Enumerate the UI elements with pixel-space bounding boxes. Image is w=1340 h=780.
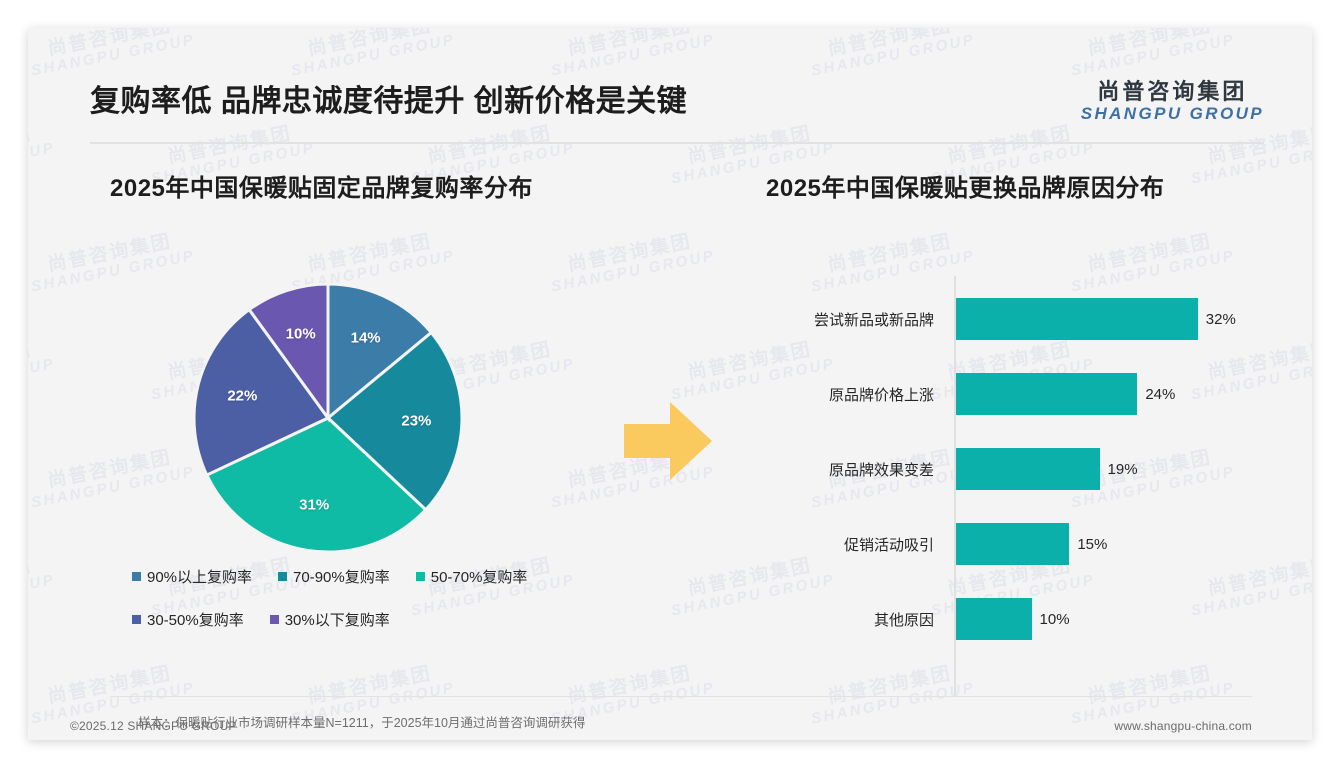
legend-swatch xyxy=(278,572,287,581)
company-logo: 尚普咨询集团 SHANGPU GROUP xyxy=(1081,80,1264,124)
bar-fill[interactable] xyxy=(956,523,1069,565)
page-title: 复购率低 品牌忠诚度待提升 创新价格是关键 xyxy=(90,76,687,120)
logo-english-name: SHANGPU GROUP xyxy=(1081,105,1264,124)
pie-slice-label: 23% xyxy=(401,412,431,429)
legend-swatch xyxy=(132,615,141,624)
bar-row[interactable]: 促销活动吸引15% xyxy=(766,523,1286,565)
watermark-text: 尚普咨询集团SHANGPU GROUP xyxy=(28,120,57,187)
logo-chinese-name: 尚普咨询集团 xyxy=(1081,80,1264,104)
sample-footnote: 样本：保暖贴行业市场调研样本量N=1211，于2025年10月通过尚普咨询调研获… xyxy=(138,712,585,731)
pie-slice-label: 10% xyxy=(286,325,316,342)
legend-item[interactable]: 50-70%复购率 xyxy=(416,566,528,587)
slide-header: 复购率低 品牌忠诚度待提升 创新价格是关键 尚普咨询集团 SHANGPU GRO… xyxy=(28,28,1312,120)
watermark-text: 尚普咨询集团SHANGPU GROUP xyxy=(28,336,57,403)
bar-fill[interactable] xyxy=(956,448,1100,490)
bar-category-label: 促销活动吸引 xyxy=(766,534,946,555)
legend-row: 30-50%复购率30%以下复购率 xyxy=(132,609,692,630)
bar-row[interactable]: 原品牌价格上涨24% xyxy=(766,373,1286,415)
bar-fill[interactable] xyxy=(956,373,1137,415)
bar-value-label: 10% xyxy=(1040,611,1070,628)
legend-label: 30-50%复购率 xyxy=(147,609,244,630)
bar-value-label: 15% xyxy=(1077,536,1107,553)
bar-chart-title: 2025年中国保暖贴更换品牌原因分布 xyxy=(766,168,1286,203)
bar-fill[interactable] xyxy=(956,298,1198,340)
bar-category-label: 尝试新品或新品牌 xyxy=(766,309,946,330)
pie-chart-panel: 2025年中国保暖贴固定品牌复购率分布 14%23%31%22%10% 90%以… xyxy=(110,168,710,668)
pie-slice-label: 14% xyxy=(351,329,381,346)
legend-swatch xyxy=(132,572,141,581)
legend-item[interactable]: 90%以上复购率 xyxy=(132,566,252,587)
bar-fill[interactable] xyxy=(956,598,1032,640)
legend-label: 50-70%复购率 xyxy=(431,566,528,587)
legend-label: 90%以上复购率 xyxy=(147,566,252,587)
bar-category-label: 其他原因 xyxy=(766,609,946,630)
pie-slice-label: 22% xyxy=(227,388,257,405)
bar-value-label: 19% xyxy=(1108,461,1138,478)
bar-value-label: 24% xyxy=(1145,386,1175,403)
legend-swatch xyxy=(416,572,425,581)
legend-label: 30%以下复购率 xyxy=(285,609,390,630)
pie-chart-title: 2025年中国保暖贴固定品牌复购率分布 xyxy=(110,168,710,203)
bar-value-label: 32% xyxy=(1206,311,1236,328)
bar-track: 24% xyxy=(956,373,1286,415)
legend-label: 70-90%复购率 xyxy=(293,566,390,587)
bar-track: 15% xyxy=(956,523,1286,565)
bar-row[interactable]: 尝试新品或新品牌32% xyxy=(766,298,1286,340)
bar-track: 10% xyxy=(956,598,1286,640)
watermark-text: 尚普咨询集团SHANGPU GROUP xyxy=(28,552,57,619)
bar-row[interactable]: 原品牌效果变差19% xyxy=(766,448,1286,490)
slide-canvas: 尚普咨询集团SHANGPU GROUP尚普咨询集团SHANGPU GROUP尚普… xyxy=(28,28,1312,740)
legend-item[interactable]: 30-50%复购率 xyxy=(132,609,244,630)
bar-chart-panel: 2025年中国保暖贴更换品牌原因分布 尝试新品或新品牌32%原品牌价格上涨24%… xyxy=(766,168,1286,668)
pie-slice-label: 31% xyxy=(299,497,329,514)
legend-swatch xyxy=(270,615,279,624)
pie-legend: 90%以上复购率70-90%复购率50-70%复购率 30-50%复购率30%以… xyxy=(132,566,692,652)
legend-row: 90%以上复购率70-90%复购率50-70%复购率 xyxy=(132,566,692,587)
legend-item[interactable]: 70-90%复购率 xyxy=(278,566,390,587)
bar-track: 19% xyxy=(956,448,1286,490)
bar-track: 32% xyxy=(956,298,1286,340)
bar-category-label: 原品牌效果变差 xyxy=(766,459,946,480)
legend-item[interactable]: 30%以下复购率 xyxy=(270,609,390,630)
pie-chart: 14%23%31%22%10% xyxy=(188,278,468,558)
footnote-divider xyxy=(110,696,1252,697)
bar-row[interactable]: 其他原因10% xyxy=(766,598,1286,640)
footer-website[interactable]: www.shangpu-china.com xyxy=(1114,719,1252,733)
bar-chart: 尝试新品或新品牌32%原品牌价格上涨24%原品牌效果变差19%促销活动吸引15%… xyxy=(766,276,1286,696)
arrow-right-icon xyxy=(624,398,712,484)
bar-category-label: 原品牌价格上涨 xyxy=(766,384,946,405)
header-divider xyxy=(90,142,1264,144)
